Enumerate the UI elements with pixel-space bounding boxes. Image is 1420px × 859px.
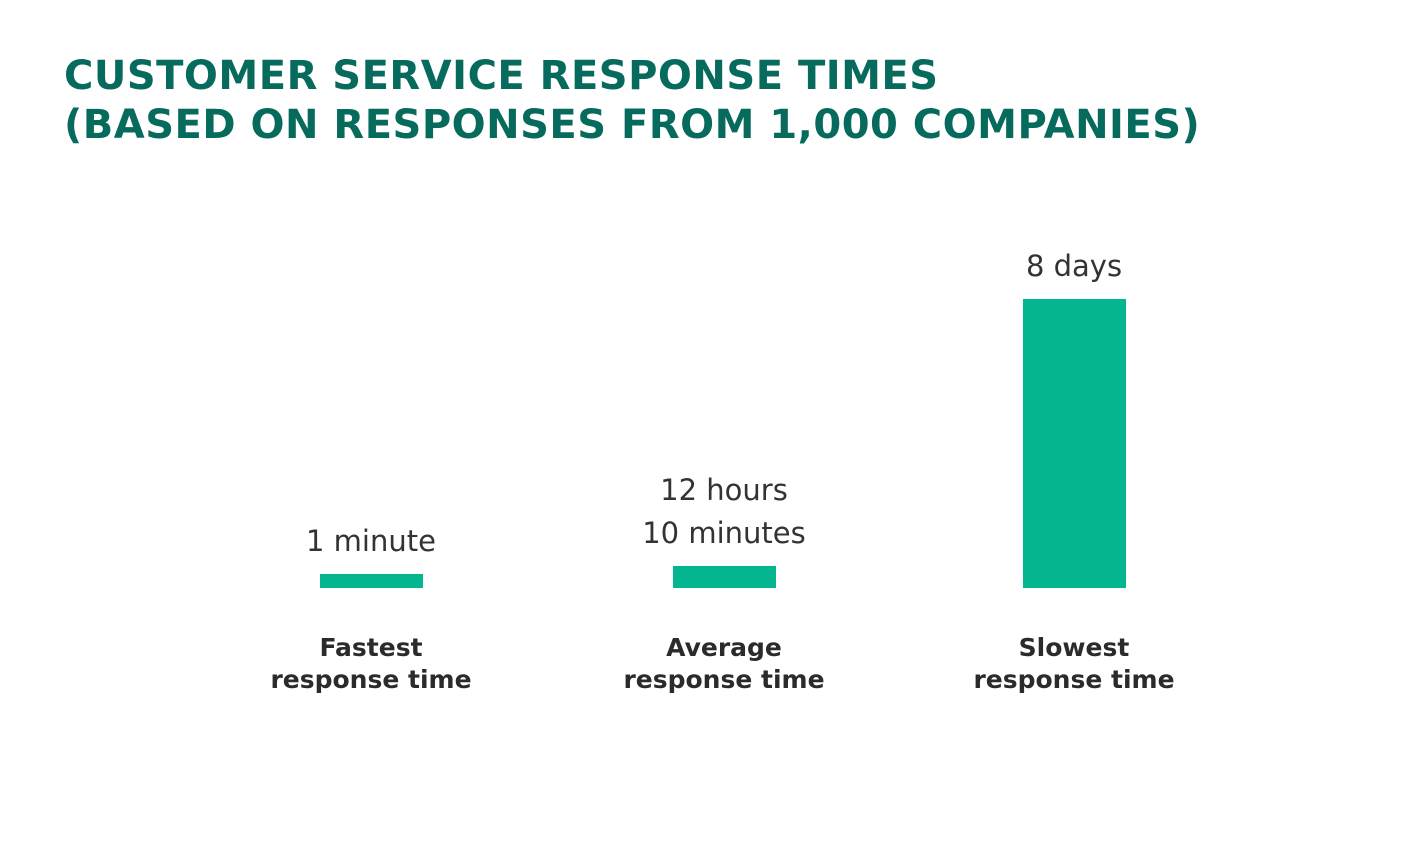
bar-group-average: 12 hours 10 minutes Average response tim… [594,0,854,859]
value-label-average: 12 hours 10 minutes [594,469,854,555]
category-label-slowest: Slowest response time [944,632,1204,696]
category-label-average: Average response time [594,632,854,696]
bar-chart: 1 minute Fastest response time 12 hours … [0,0,1420,859]
category-label-fastest: Fastest response time [241,632,501,696]
bar-average[interactable] [673,566,776,588]
bar-fastest[interactable] [320,574,423,588]
infographic-page: CUSTOMER SERVICE RESPONSE TIMES (BASED O… [0,0,1420,859]
value-label-slowest: 8 days [944,245,1204,288]
bar-slowest[interactable] [1023,299,1126,588]
value-label-fastest: 1 minute [241,520,501,563]
bar-group-fastest: 1 minute Fastest response time [241,0,501,859]
bar-group-slowest: 8 days Slowest response time [944,0,1204,859]
